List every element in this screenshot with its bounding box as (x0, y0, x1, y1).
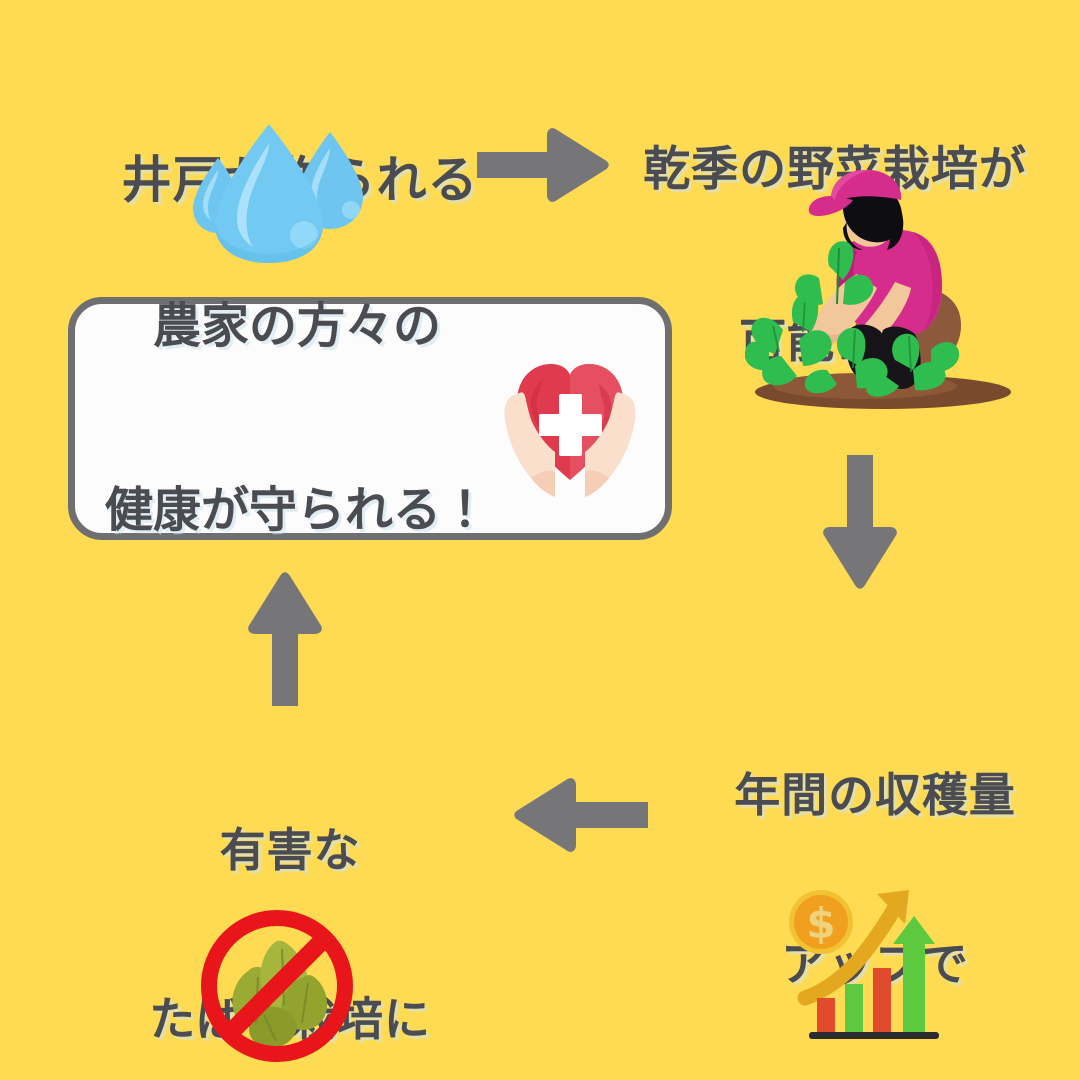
health-callout-box: 農家の方々の 健康が守られる！ (68, 297, 672, 540)
caption-tobacco-line-1: 有害な (80, 822, 500, 878)
heart-in-hands-icon (495, 332, 645, 506)
no-tobacco-icon (196, 905, 358, 1071)
infographic-canvas: 井戸が作られる 乾季の野菜栽培が 可能に！ 年間の収穫量 アップで 収入が向上 … (0, 0, 1080, 1080)
water-drops-icon (185, 118, 375, 267)
svg-text:$: $ (806, 899, 835, 948)
income-growth-chart-icon: $ (785, 880, 965, 1054)
caption-health-line-2: 健康が守られる！ (105, 480, 489, 541)
arrow-down-icon (820, 455, 900, 599)
arrow-up-icon (245, 568, 325, 710)
arrow-right-icon (477, 125, 612, 209)
caption-harvest-line-1: 年間の収穫量 (690, 767, 1060, 823)
caption-health-line-1: 農家の方々の (105, 296, 489, 357)
farmer-planting-icon (745, 170, 1045, 419)
arrow-left-icon (508, 775, 648, 859)
